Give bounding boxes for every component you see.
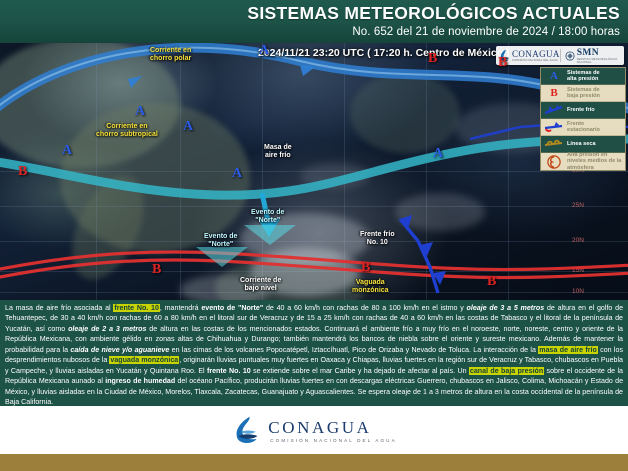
bulletin-body-text: La masa de aire frío asociada al frente … — [0, 300, 628, 406]
conagua-badge-name: CONAGUA — [512, 49, 560, 59]
annotation-line1: Frente frío — [360, 231, 395, 238]
body-segment-7: oleaje de 2 a 3 metros — [68, 325, 146, 333]
cold-front-10-path — [400, 219, 438, 293]
legend-panel: A Sistemas de alta presión B Sistemas de… — [540, 67, 626, 171]
pressure-marker-a-2: A — [135, 104, 145, 120]
high-pressure-icon: A — [543, 69, 565, 84]
body-segment-15: frente No. 10 — [207, 367, 251, 375]
low-pressure-icon: B — [543, 86, 565, 101]
pressure-marker-a-1: A — [62, 143, 72, 159]
footer-brand-tagline: COMISIÓN NACIONAL DEL AGUA — [268, 438, 397, 443]
annotation-line1: Vaguada — [356, 279, 385, 286]
smn-logo-icon — [565, 50, 575, 62]
annotation-line2: No. 10 — [367, 239, 388, 246]
annotation-line1: Masa de — [264, 144, 292, 151]
legend-item-baja-presion: B Sistemas de baja presión — [541, 85, 625, 102]
annotation-evento-norte-tehuantepec: Evento de "Norte" — [204, 233, 237, 249]
pressure-marker-a-6: A — [433, 146, 443, 162]
page-title: SISTEMAS METEOROLÓGICOS ACTUALES — [247, 3, 620, 24]
smn-badge-name: SMN — [577, 48, 624, 58]
satellite-weather-map: 30N 25N 20N 15N 10N — [0, 43, 628, 300]
pressure-marker-a-3: A — [183, 119, 193, 135]
subtropical-jet-path — [0, 139, 628, 195]
pressure-marker-a-4: A — [232, 166, 242, 182]
annotation-line1: Corriente de — [240, 277, 281, 284]
legend-label-line2: niveles medios de la atmósfera — [567, 158, 621, 170]
evento-norte-flag-tehuantepec — [196, 247, 248, 267]
annotation-line1: Corriente en — [150, 47, 191, 54]
legend-label-line1: Línea seca — [567, 141, 596, 147]
stationary-front-icon — [543, 120, 565, 135]
meteorological-bulletin-page: SISTEMAS METEOROLÓGICOS ACTUALES No. 652… — [0, 0, 628, 471]
jet-arrow-1 — [128, 76, 142, 88]
annotation-corriente-chorro-polar: Corriente en chorro polar — [150, 47, 191, 63]
legend-label-line1: Frente frío — [567, 107, 595, 113]
pressure-marker-b-6: B — [18, 164, 27, 180]
evento-norte-flag-golfo — [244, 225, 296, 245]
pressure-marker-a-5: A — [259, 43, 269, 59]
body-segment-11: masa de aire frío — [538, 346, 598, 354]
cold-front-icon — [543, 103, 565, 118]
annotation-line1: Evento de — [204, 233, 237, 240]
legend-label-line1: Alta presión en — [567, 152, 607, 158]
annotation-evento-norte-golfo: Evento de "Norte" — [251, 209, 284, 225]
legend-label-alta-presion-media: Alta presión en niveles medios de la atm… — [565, 152, 625, 171]
conagua-smn-badge: CONAGUA COMISIÓN NACIONAL DEL AGUA SMN S… — [496, 46, 624, 65]
pressure-marker-b-3: B — [361, 260, 370, 276]
smn-badge: SMN SERVICIO METEOROLÓGICO NACIONAL — [561, 48, 624, 64]
annotation-vaguada-monzonica: Vaguada monzónica — [352, 279, 389, 295]
annotation-line1: Evento de — [251, 209, 284, 216]
legend-label-line1: Sistemas de — [567, 70, 600, 76]
legend-label-line2: alta presión — [567, 76, 598, 82]
annotation-line2: bajo nivel — [244, 285, 276, 292]
annotation-corriente-chorro-subtropical: Corriente en chorro subtropical — [96, 123, 158, 139]
legend-item-frente-estacionario: Frente estacionario — [541, 119, 625, 136]
body-segment-17: canal de baja presión — [469, 367, 544, 375]
legend-item-alta-presion-media: Alta presión en niveles medios de la atm… — [541, 153, 625, 170]
body-segment-1: frente No. 10 — [113, 304, 160, 312]
annotation-line2: aire frío — [265, 152, 291, 159]
header-band: SISTEMAS METEOROLÓGICOS ACTUALES No. 652… — [0, 0, 628, 43]
annotation-line2: monzónica — [352, 287, 389, 294]
footer-gold-bar — [0, 454, 628, 471]
body-segment-9: caída de nieve y/o aguanieve — [70, 346, 169, 354]
footer-brand-name: CONAGUA — [268, 418, 397, 438]
map-timestamp: 2024/11/21 23:20 UTC ( 17:20 h. Centro d… — [258, 47, 510, 59]
pressure-marker-b-4: B — [487, 274, 496, 290]
legend-label-line2: estacionario — [567, 127, 600, 133]
smn-badge-tagline: SERVICIO METEOROLÓGICO NACIONAL — [577, 58, 624, 64]
body-segment-16: se extiende sobre el mar Caribe y ha dej… — [251, 367, 469, 375]
pressure-marker-b-1: B — [428, 51, 437, 67]
annotation-frente-frio-10: Frente frío No. 10 — [360, 231, 395, 247]
body-segment-10: en las cimas de los volcanes Popocatépet… — [169, 346, 538, 354]
legend-label-line1: Frente — [567, 121, 584, 127]
body-segment-2: , mantendrá — [160, 304, 201, 312]
legend-label-frente-frio: Frente frío — [565, 107, 595, 113]
legend-label-baja-presion: Sistemas de baja presión — [565, 87, 600, 100]
dry-line-icon — [543, 137, 565, 152]
legend-item-linea-seca: Línea seca — [541, 136, 625, 153]
bulletin-number-date: No. 652 del 21 de noviembre de 2024 / 18… — [352, 26, 620, 38]
body-segment-5: oleaje de 3 a 5 metros — [467, 304, 545, 312]
annotation-line2: "Norte" — [255, 217, 280, 224]
pressure-marker-b-5: B — [152, 262, 161, 278]
legend-label-frente-estacionario: Frente estacionario — [565, 121, 600, 134]
body-segment-3: evento de "Norte" — [201, 304, 263, 312]
body-segment-4: de 40 a 60 km/h con rachas de 80 a 100 k… — [263, 304, 466, 312]
footer-wordmark: CONAGUA COMISIÓN NACIONAL DEL AGUA — [268, 418, 397, 443]
annotation-line2: "Norte" — [208, 241, 233, 248]
body-segment-0: La masa de aire frío asociada al — [5, 304, 113, 312]
annotation-line2: chorro subtropical — [96, 131, 158, 138]
annotation-line1: Corriente en — [106, 123, 147, 130]
legend-symbol-b: B — [550, 87, 557, 99]
legend-label-linea-seca: Línea seca — [565, 141, 596, 147]
annotation-masa-aire-frio: Masa de aire frío — [264, 144, 292, 160]
pressure-marker-b-2: B — [498, 55, 507, 71]
jet-stream-overlay — [0, 43, 628, 300]
legend-label-line1: Sistemas de — [567, 87, 600, 93]
body-segment-13: vaguada monzónica — [109, 356, 179, 364]
footer-logo-bar: CONAGUA COMISIÓN NACIONAL DEL AGUA — [0, 406, 628, 454]
legend-label-line2: baja presión — [567, 93, 600, 99]
body-segment-19: ingreso de humedad — [105, 377, 175, 385]
conagua-footer-logo-icon — [231, 415, 261, 445]
legend-item-frente-frio: Frente frío — [541, 102, 625, 119]
legend-item-alta-presion: A Sistemas de alta presión — [541, 68, 625, 85]
annotation-corriente-bajo-nivel: Corriente de bajo nivel — [240, 277, 281, 293]
legend-symbol-a: A — [550, 70, 558, 82]
annotation-line2: chorro polar — [150, 55, 191, 62]
tropical-cyclone-icon — [543, 154, 565, 169]
legend-label-alta-presion: Sistemas de alta presión — [565, 70, 600, 83]
conagua-badge-tagline: COMISIÓN NACIONAL DEL AGUA — [512, 59, 560, 62]
